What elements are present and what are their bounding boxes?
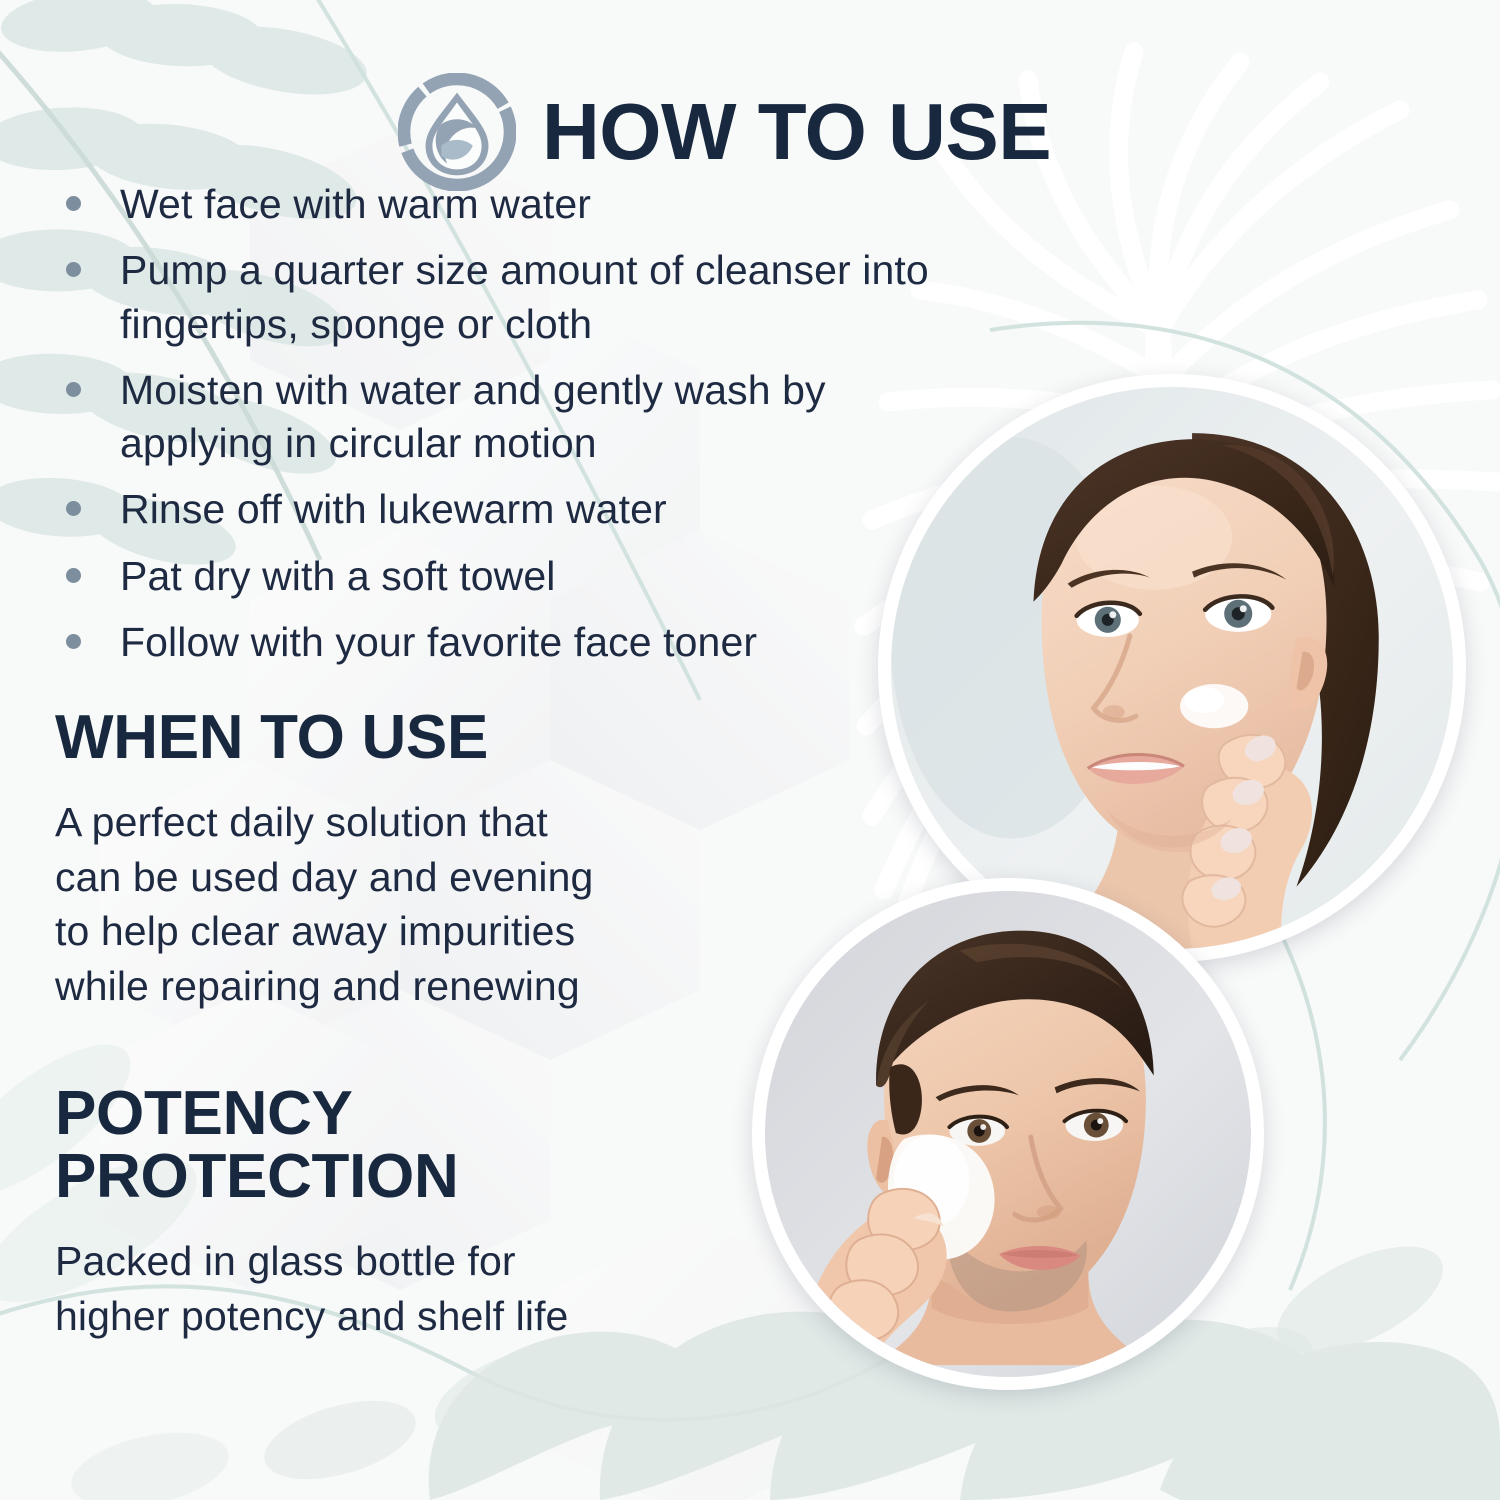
step-text: Rinse off with lukewarm water bbox=[120, 486, 667, 532]
section-potency-protection: POTENCY PROTECTION Packed in glass bottl… bbox=[55, 1082, 695, 1344]
section-body: Packed in glass bottle for higher potenc… bbox=[55, 1234, 695, 1343]
photo-woman-applying-cleanser bbox=[878, 374, 1466, 962]
photo-man-applying-cleanser bbox=[752, 878, 1264, 1390]
how-to-use-step-list: Wet face with warm water Pump a quarter … bbox=[52, 178, 982, 682]
bullet-dot-icon bbox=[66, 634, 81, 649]
step-text: Pat dry with a soft towel bbox=[120, 553, 555, 599]
step-text: Wet face with warm water bbox=[120, 181, 591, 227]
list-item: Pump a quarter size amount of cleanser i… bbox=[52, 244, 982, 351]
bullet-dot-icon bbox=[66, 262, 81, 277]
list-item: Wet face with warm water bbox=[52, 178, 982, 231]
woman-portrait-illustration-icon bbox=[891, 387, 1453, 949]
list-item: Follow with your favorite face toner bbox=[52, 616, 982, 669]
bullet-dot-icon bbox=[66, 196, 81, 211]
water-droplet-leaf-logo-icon bbox=[398, 73, 516, 191]
list-item: Moisten with water and gently wash by ap… bbox=[52, 364, 982, 471]
list-item: Rinse off with lukewarm water bbox=[52, 483, 982, 536]
section-body: A perfect daily solution that can be use… bbox=[55, 795, 715, 1013]
section-when-to-use: WHEN TO USE A perfect daily solution tha… bbox=[55, 706, 715, 1013]
list-item: Pat dry with a soft towel bbox=[52, 550, 982, 603]
bullet-dot-icon bbox=[66, 568, 81, 583]
page-title: HOW TO USE bbox=[542, 92, 1051, 172]
section-title: WHEN TO USE bbox=[55, 706, 715, 769]
bullet-dot-icon bbox=[66, 501, 81, 516]
man-portrait-illustration-icon bbox=[765, 891, 1251, 1377]
infographic-canvas: HOW TO USE Wet face with warm water Pump… bbox=[0, 0, 1500, 1500]
step-text: Moisten with water and gently wash by ap… bbox=[120, 367, 826, 466]
bullet-dot-icon bbox=[66, 382, 81, 397]
step-text: Pump a quarter size amount of cleanser i… bbox=[120, 247, 929, 346]
step-text: Follow with your favorite face toner bbox=[120, 619, 757, 665]
section-title: POTENCY PROTECTION bbox=[55, 1082, 695, 1208]
